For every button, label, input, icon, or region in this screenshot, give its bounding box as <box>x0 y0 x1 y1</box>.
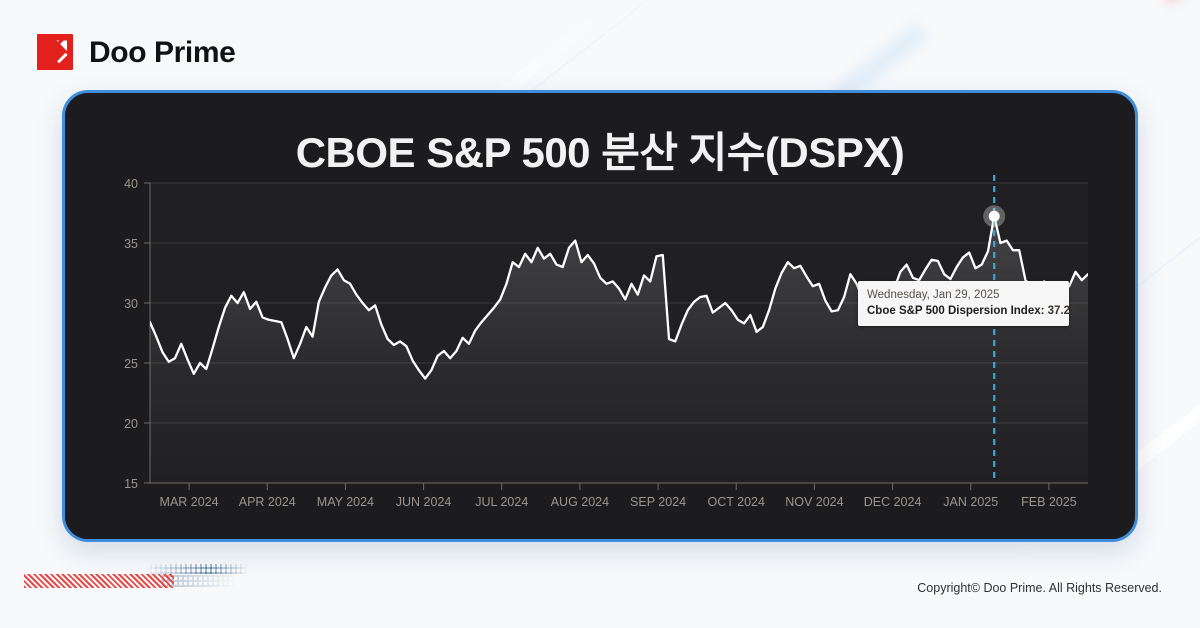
x-tick-label: SEP 2024 <box>630 495 686 509</box>
y-tick-30: 30 <box>124 297 138 311</box>
dspx-line-chart: 40 35 30 25 20 15 MAR 2024APR 2024MAY 20… <box>65 175 1138 542</box>
doo-prime-logo-icon <box>36 33 76 73</box>
decor-red-bar <box>24 574 174 588</box>
y-tick-15: 15 <box>124 477 138 491</box>
x-tick-label: NOV 2024 <box>785 495 843 509</box>
brand-logo: Doo Prime <box>36 33 235 73</box>
y-tick-40: 40 <box>124 177 138 191</box>
tooltip-series-label: Cboe S&P 500 Dispersion Index: <box>867 305 1044 317</box>
chart-tooltip: Wednesday, Jan 29, 2025 Cboe S&P 500 Dis… <box>858 281 1069 326</box>
x-tick-label: AUG 2024 <box>551 495 609 509</box>
x-tick-label: APR 2024 <box>239 495 296 509</box>
x-tick-label: JUL 2024 <box>475 495 528 509</box>
chart-card: CBOE S&P 500 분산 지수(DSPX) <box>62 90 1138 542</box>
brand-name: Doo Prime <box>89 36 235 70</box>
x-tick-label: MAY 2024 <box>317 495 374 509</box>
footer-decoration <box>22 562 232 592</box>
y-tick-20: 20 <box>124 417 138 431</box>
chart-area: 40 35 30 25 20 15 MAR 2024APR 2024MAY 20… <box>65 175 1138 542</box>
copyright-text: Copyright© Doo Prime. All Rights Reserve… <box>917 581 1162 595</box>
x-tick-label: MAR 2024 <box>160 495 219 509</box>
y-tick-25: 25 <box>124 357 138 371</box>
x-tick-label: OCT 2024 <box>708 495 765 509</box>
x-tick-label: DEC 2024 <box>864 495 922 509</box>
decor-dots-top <box>150 564 246 574</box>
tooltip-value: 37.23 <box>1048 305 1077 317</box>
x-tick-label: JAN 2025 <box>943 495 998 509</box>
x-tick-label: JUN 2024 <box>396 495 452 509</box>
tooltip-value-row: Cboe S&P 500 Dispersion Index: 37.23 <box>867 303 1060 319</box>
tooltip-date: Wednesday, Jan 29, 2025 <box>867 287 1060 303</box>
x-tick-label: FEB 2025 <box>1021 495 1077 509</box>
marker-point[interactable] <box>989 211 1000 222</box>
y-tick-35: 35 <box>124 237 138 251</box>
page-title: CBOE S&P 500 분산 지수(DSPX) <box>65 119 1135 180</box>
